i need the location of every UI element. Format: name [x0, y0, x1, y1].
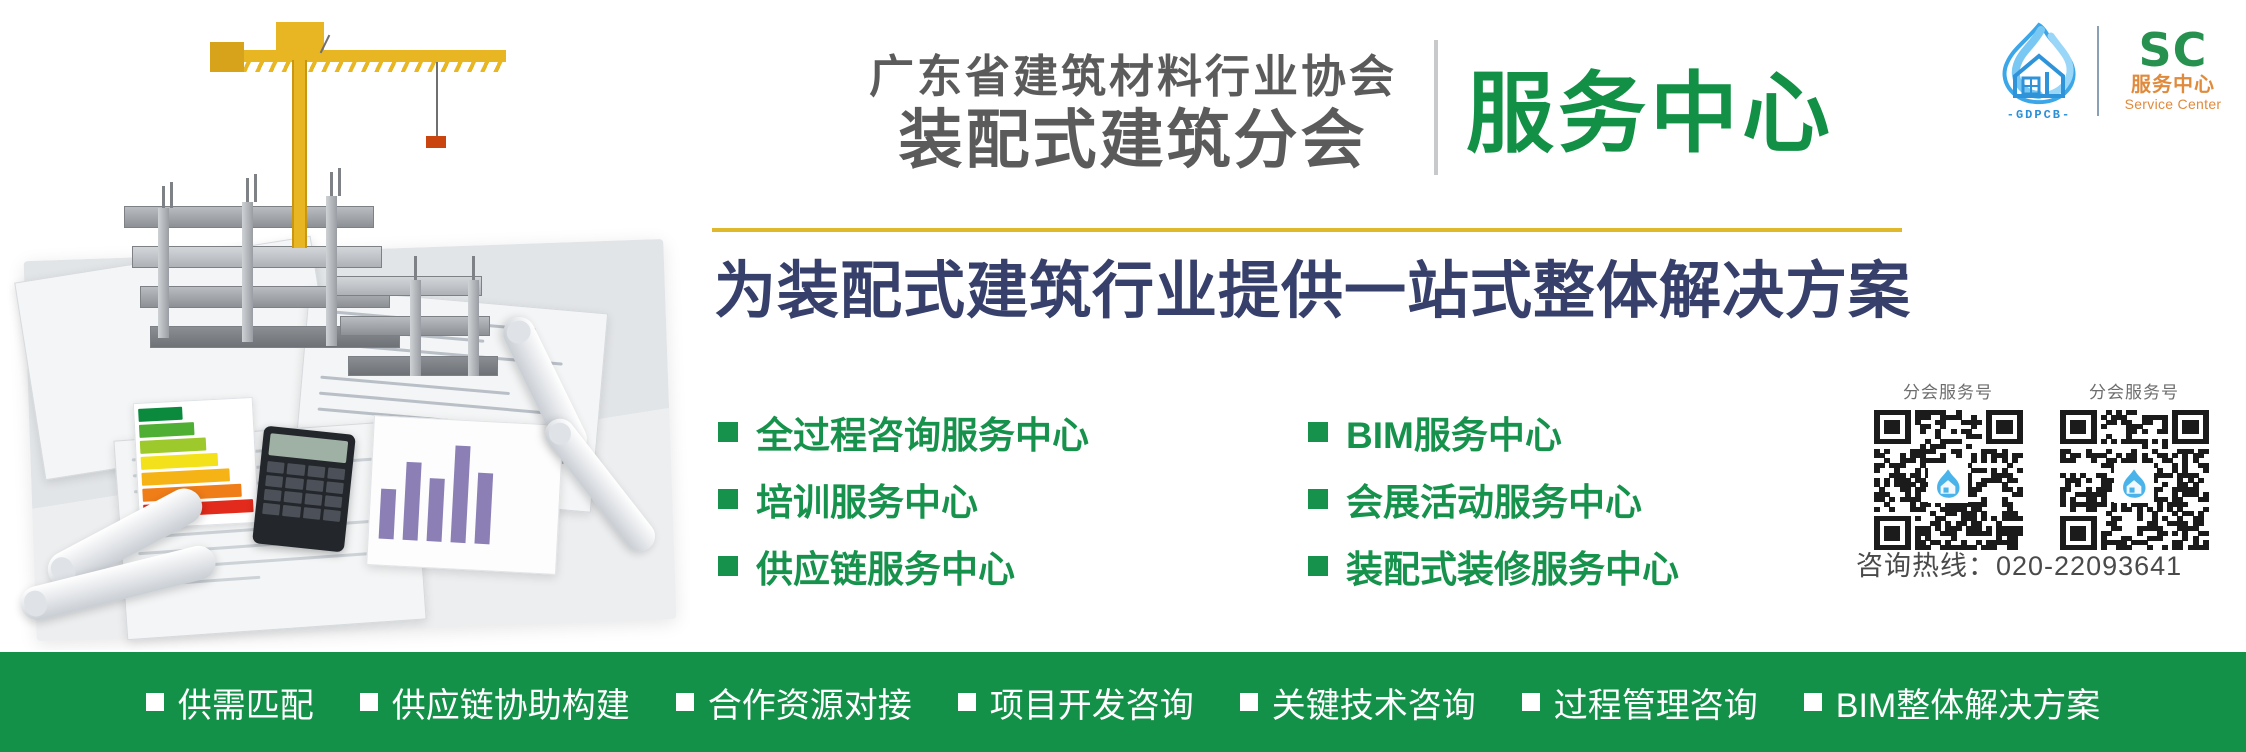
qr-module [1920, 487, 1926, 492]
capability-item[interactable]: 供应链协助构建 [360, 678, 630, 727]
qr-module [2080, 429, 2086, 434]
capability-item[interactable]: 供需匹配 [146, 678, 314, 727]
qr-module [2162, 531, 2168, 536]
qr-module [2017, 439, 2023, 444]
qr-module [2142, 429, 2148, 434]
association-name-line1: 广东省建筑材料行业协会 [843, 50, 1423, 104]
bar-chart-bars [379, 431, 552, 548]
qr-module [1986, 531, 1992, 536]
square-bullet-icon [718, 556, 738, 576]
capability-item[interactable]: 合作资源对接 [676, 678, 912, 727]
capability-label: 过程管理咨询 [1554, 678, 1758, 727]
crane-mast [292, 60, 307, 248]
capability-item[interactable]: 项目开发咨询 [958, 678, 1194, 727]
banner-root: 广东省建筑材料行业协会 装配式建筑分会 服务中心 为装配式建筑行业提供一站式整体… [0, 0, 2246, 752]
square-bullet-icon [1240, 693, 1258, 711]
square-bullet-icon [1804, 693, 1822, 711]
qr-module [2017, 492, 2023, 497]
qr-module [2106, 487, 2112, 492]
qr-module [1874, 468, 1880, 473]
qr-module [1976, 487, 1982, 492]
sc-logo-abbr: SC [2111, 26, 2235, 74]
qr-module [1884, 449, 1890, 454]
qr-module [1951, 536, 1957, 541]
association-name-line2: 装配式建筑分会 [843, 104, 1423, 176]
square-bullet-icon [958, 693, 976, 711]
qr-module [1900, 463, 1906, 468]
service-item-label: 全过程咨询服务中心 [756, 405, 1089, 459]
qr-module [2162, 482, 2168, 487]
service-center-title: 服务中心 [1466, 64, 1834, 164]
qr-module [2126, 507, 2132, 512]
capability-label: 供需匹配 [178, 678, 314, 727]
square-bullet-icon [1308, 422, 1328, 442]
crane-apex [276, 22, 324, 52]
qr-module [1905, 439, 1911, 444]
capability-label: 项目开发咨询 [990, 678, 1194, 727]
qr-module [2017, 468, 2023, 473]
crane-counterweight [210, 42, 244, 72]
qr-module [2157, 536, 2163, 541]
qr-module [1956, 439, 1962, 444]
qr-module [2203, 468, 2209, 473]
qr-module [2070, 507, 2076, 512]
qr-module [2007, 429, 2013, 434]
qr-module [1951, 429, 1957, 434]
tower-crane [180, 8, 510, 248]
qr-module [1894, 536, 1900, 541]
qr-module [2203, 507, 2209, 512]
service-item-label: 装配式装修服务中心 [1346, 539, 1679, 593]
qr-module [2203, 449, 2209, 454]
service-center-lists: 全过程咨询服务中心 培训服务中心 供应链服务中心 BIM服务中心 会展活动服务中… [718, 398, 1818, 599]
qr-code-image[interactable] [2060, 410, 2208, 550]
qr-module [1981, 458, 1987, 463]
qr-module [2012, 478, 2018, 483]
qr-module [1894, 429, 1900, 434]
bottom-capability-bar: 供需匹配 供应链协助构建 合作资源对接 项目开发咨询 关键技术咨询 过程管理咨询… [0, 652, 2246, 752]
service-item[interactable]: 装配式装修服务中心 [1308, 532, 1778, 599]
qr-module [2091, 439, 2097, 444]
service-item[interactable]: BIM服务中心 [1308, 398, 1778, 465]
square-bullet-icon [1308, 489, 1328, 509]
qr-module [1884, 482, 1890, 487]
qr-code-label: 分会服务号 [2060, 378, 2208, 403]
capability-label: 合作资源对接 [708, 678, 912, 727]
sc-logo[interactable]: SC 服务中心 Service Center [2111, 22, 2235, 122]
qr-module [2017, 516, 2023, 521]
qr-module [1874, 507, 1880, 512]
square-bullet-icon [360, 693, 378, 711]
qr-module [2111, 420, 2117, 425]
flame-house-logo-icon [1928, 463, 1968, 503]
service-item[interactable]: 供应链服务中心 [718, 532, 1188, 599]
qr-module [1951, 511, 1957, 516]
square-bullet-icon [1522, 693, 1540, 711]
qr-module [2101, 502, 2107, 507]
qr-module [1956, 453, 1962, 458]
capability-label: 供应链协助构建 [392, 678, 630, 727]
qr-module [2060, 502, 2066, 507]
qr-module [1925, 424, 1931, 429]
qr-module [2137, 531, 2143, 536]
qr-module [2162, 444, 2168, 449]
qr-module [1976, 434, 1982, 439]
logo-divider [2097, 26, 2099, 116]
qr-module [2142, 444, 2148, 449]
qr-module [1925, 415, 1931, 420]
square-bullet-icon [718, 422, 738, 442]
qr-code-label: 分会服务号 [1874, 378, 2022, 403]
service-list-left: 全过程咨询服务中心 培训服务中心 供应链服务中心 [718, 398, 1188, 599]
logo-group: -GDPCB- SC 服务中心 Service Center [1985, 22, 2235, 122]
qr-code-block[interactable]: 分会服务号 [2060, 378, 2208, 550]
crane-hook [426, 136, 446, 148]
qr-module [1971, 492, 1977, 497]
capability-item[interactable]: 过程管理咨询 [1522, 678, 1758, 727]
service-item-label: 培训服务中心 [756, 472, 978, 526]
qr-module [2091, 458, 2097, 463]
qr-module [2116, 526, 2122, 531]
qr-module [2101, 439, 2107, 444]
calculator-keys [262, 461, 345, 522]
qr-module [2017, 453, 2023, 458]
qr-module [2017, 531, 2023, 536]
capability-label: BIM整体解决方案 [1836, 678, 2100, 727]
qr-module [1930, 449, 1936, 454]
qr-module [2075, 482, 2081, 487]
qr-module [2101, 424, 2107, 429]
service-item[interactable]: 会展活动服务中心 [1308, 465, 1778, 532]
qr-module [2137, 516, 2143, 521]
hero-artwork [0, 0, 690, 650]
association-title: 广东省建筑材料行业协会 装配式建筑分会 [843, 50, 1423, 176]
qr-module [1981, 502, 1987, 507]
capability-item[interactable]: 关键技术咨询 [1240, 678, 1476, 727]
service-item-label: 会展活动服务中心 [1346, 472, 1642, 526]
qr-module [2147, 420, 2153, 425]
qr-module [2203, 531, 2209, 536]
qr-module [2167, 473, 2173, 478]
qr-module [1966, 444, 1972, 449]
qr-module [2111, 507, 2117, 512]
crane-jib [220, 50, 506, 62]
qr-module [1940, 444, 1946, 449]
qr-module [2007, 463, 2013, 468]
qr-module [1915, 516, 1921, 521]
square-bullet-icon [146, 693, 164, 711]
qr-module [2080, 536, 2086, 541]
qr-module [2106, 449, 2112, 454]
page-slogan: 为装配式建筑行业提供一站式整体解决方案 [714, 252, 1914, 332]
qr-module [2070, 458, 2076, 463]
qr-code-image[interactable] [1874, 410, 2022, 550]
bar-chart-printout [366, 415, 564, 575]
square-bullet-icon [676, 693, 694, 711]
service-item[interactable]: 全过程咨询服务中心 [718, 398, 1188, 465]
qr-module [1920, 507, 1926, 512]
qr-module [2091, 507, 2097, 512]
qr-module [1920, 429, 1926, 434]
qr-module [2203, 439, 2209, 444]
gold-divider-rule [712, 228, 1902, 232]
qr-module [1910, 458, 1916, 463]
hotline-text: 咨询热线：020-22093641 [1856, 544, 2182, 583]
crane-jib-lattice [220, 62, 506, 72]
qr-module [2106, 531, 2112, 536]
service-item[interactable]: 培训服务中心 [718, 465, 1188, 532]
gdpcb-logo-code: -GDPCB- [1985, 108, 2093, 122]
square-bullet-icon [1308, 556, 1328, 576]
qr-module [2172, 531, 2178, 536]
service-item-label: BIM服务中心 [1346, 405, 1562, 459]
qr-module [2152, 439, 2158, 444]
service-item-label: 供应链服务中心 [756, 539, 1015, 593]
capability-label: 关键技术咨询 [1272, 678, 1476, 727]
flame-house-logo-icon [2114, 463, 2154, 503]
capability-item[interactable]: BIM整体解决方案 [1804, 678, 2100, 727]
flame-house-logo-icon [1985, 22, 2093, 108]
title-vertical-divider [1434, 40, 1438, 175]
qr-module [1981, 482, 1987, 487]
sc-logo-cn: 服务中心 [2111, 74, 2235, 96]
sc-logo-en: Service Center [2111, 96, 2235, 112]
qr-code-block[interactable]: 分会服务号 [1874, 378, 2022, 550]
qr-module [2193, 429, 2199, 434]
qr-module [1981, 468, 1987, 473]
qr-module [2086, 478, 2092, 483]
service-list-right: BIM服务中心 会展活动服务中心 装配式装修服务中心 [1308, 398, 1778, 599]
qr-module [1889, 507, 1895, 512]
qr-module [2131, 410, 2137, 415]
qr-module [2111, 439, 2117, 444]
qr-module [1981, 516, 1987, 521]
calculator [252, 426, 356, 553]
qr-module [1976, 420, 1982, 425]
calculator-screen [268, 433, 348, 463]
qr-module [2203, 545, 2209, 550]
qr-module [1991, 458, 1997, 463]
qr-module [1940, 424, 1946, 429]
gdpcb-logo[interactable]: -GDPCB- [1985, 22, 2093, 122]
qr-module [2162, 429, 2168, 434]
qr-module [2203, 497, 2209, 502]
square-bullet-icon [718, 489, 738, 509]
qr-code-group: 分会服务号 分会服务号 [1874, 378, 2208, 550]
